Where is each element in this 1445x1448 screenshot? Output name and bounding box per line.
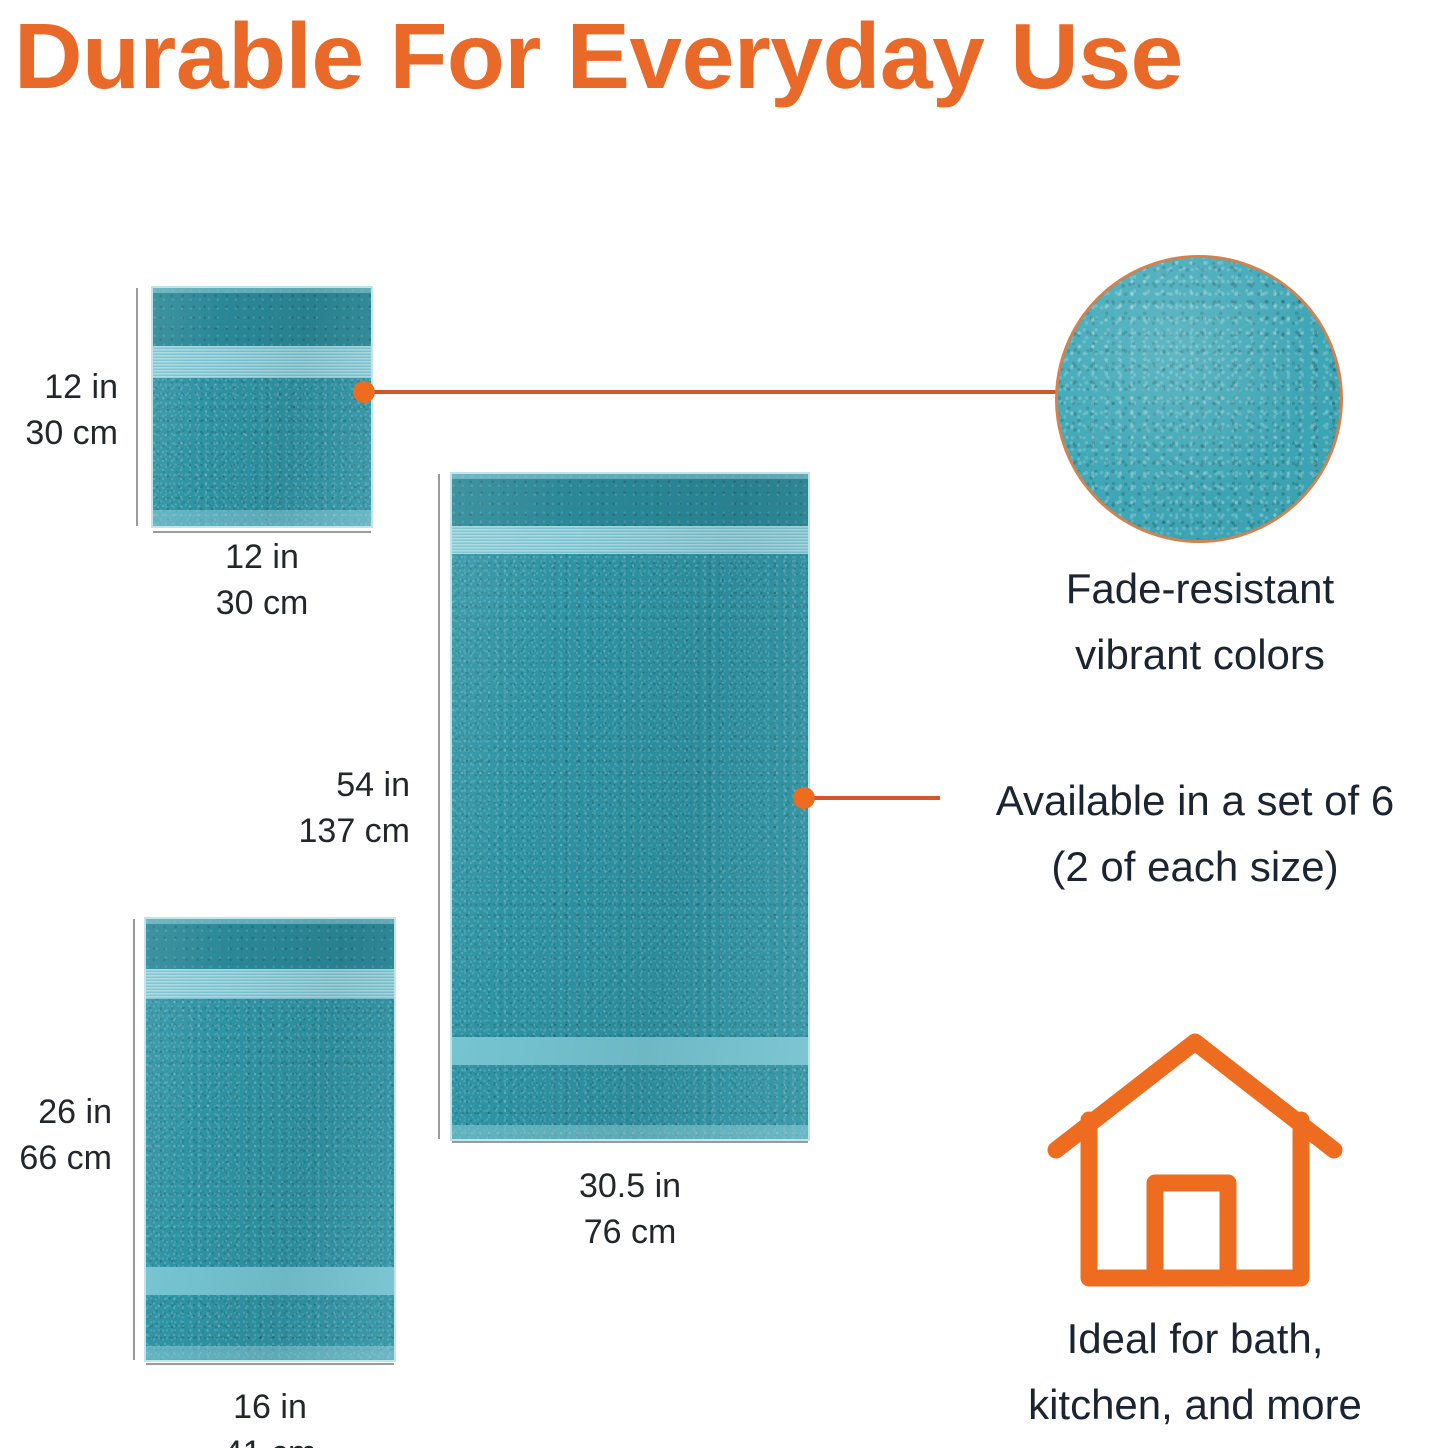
feature-set-of-six-line1: Available in a set of 6 bbox=[950, 768, 1440, 834]
callout-dot-set bbox=[793, 787, 815, 809]
feature-set-of-six-line2: (2 of each size) bbox=[950, 834, 1440, 900]
washcloth-width-cm: 30 cm bbox=[153, 580, 371, 626]
towel-bottom-hem bbox=[452, 1125, 808, 1139]
infographic-canvas: Durable For Everyday Use 12 in 30 cm 12 … bbox=[0, 0, 1445, 1448]
dimension-bracket-bath-height bbox=[438, 474, 440, 1139]
bath-height-cm: 137 cm bbox=[190, 808, 410, 854]
product-image-bath-towel bbox=[452, 474, 808, 1139]
feature-ideal-for-line2: kitchen, and more bbox=[950, 1372, 1440, 1438]
washcloth-height-cm: 30 cm bbox=[0, 410, 118, 456]
towel-top-band bbox=[146, 919, 394, 969]
product-image-hand-towel bbox=[146, 919, 394, 1360]
page-title: Durable For Everyday Use bbox=[14, 6, 1445, 106]
towel-top-hem bbox=[452, 474, 808, 479]
towel-stripe-band-bottom bbox=[146, 1267, 394, 1295]
hand-towel-width-label: 16 in 41 cm bbox=[146, 1384, 394, 1448]
bath-height-in: 54 in bbox=[190, 762, 410, 808]
dimension-bracket-washcloth-height bbox=[136, 288, 138, 526]
feature-ideal-for: Ideal for bath, kitchen, and more bbox=[950, 1306, 1440, 1438]
towel-top-hem bbox=[146, 919, 394, 924]
towel-stripe-band-top bbox=[146, 969, 394, 999]
hand-width-cm: 41 cm bbox=[146, 1430, 394, 1448]
hand-height-cm: 66 cm bbox=[0, 1135, 112, 1181]
bath-width-in: 30.5 in bbox=[452, 1163, 808, 1209]
bath-width-cm: 76 cm bbox=[452, 1209, 808, 1255]
dimension-bracket-bath-width bbox=[452, 1141, 808, 1143]
towel-stripe-band-top bbox=[452, 526, 808, 554]
feature-ideal-for-line1: Ideal for bath, bbox=[950, 1306, 1440, 1372]
dimension-bracket-hand-height bbox=[133, 919, 135, 1360]
bath-towel-height-label: 54 in 137 cm bbox=[190, 762, 410, 854]
washcloth-width-in: 12 in bbox=[153, 534, 371, 580]
hand-height-in: 26 in bbox=[0, 1089, 112, 1135]
towel-stripe-band-bottom bbox=[452, 1037, 808, 1065]
towel-top-band bbox=[153, 288, 371, 346]
feature-fade-resistant-line1: Fade-resistant bbox=[960, 556, 1440, 622]
feature-fade-resistant: Fade-resistant vibrant colors bbox=[960, 556, 1440, 688]
fabric-closeup-circle bbox=[1055, 255, 1343, 543]
dimension-bracket-hand-width bbox=[146, 1363, 394, 1365]
callout-leader-line-fabric bbox=[366, 390, 1058, 394]
towel-stripe-band bbox=[153, 346, 371, 378]
hand-towel-height-label: 26 in 66 cm bbox=[0, 1089, 112, 1181]
towel-bottom-hem bbox=[153, 510, 371, 526]
house-icon bbox=[1042, 1028, 1348, 1300]
feature-fade-resistant-line2: vibrant colors bbox=[960, 622, 1440, 688]
callout-dot-fabric bbox=[353, 381, 375, 403]
washcloth-height-label: 12 in 30 cm bbox=[0, 364, 118, 456]
washcloth-width-label: 12 in 30 cm bbox=[153, 534, 371, 626]
towel-top-band bbox=[452, 474, 808, 526]
towel-top-hem bbox=[153, 288, 371, 293]
product-image-washcloth bbox=[153, 288, 371, 526]
fabric-closeup-sheen bbox=[1058, 258, 1340, 540]
towel-bottom-hem bbox=[146, 1346, 394, 1360]
bath-towel-width-label: 30.5 in 76 cm bbox=[452, 1163, 808, 1255]
feature-set-of-six: Available in a set of 6 (2 of each size) bbox=[950, 768, 1440, 900]
dimension-bracket-washcloth-width bbox=[153, 531, 371, 533]
callout-leader-line-set bbox=[806, 796, 940, 800]
washcloth-height-in: 12 in bbox=[0, 364, 118, 410]
hand-width-in: 16 in bbox=[146, 1384, 394, 1430]
